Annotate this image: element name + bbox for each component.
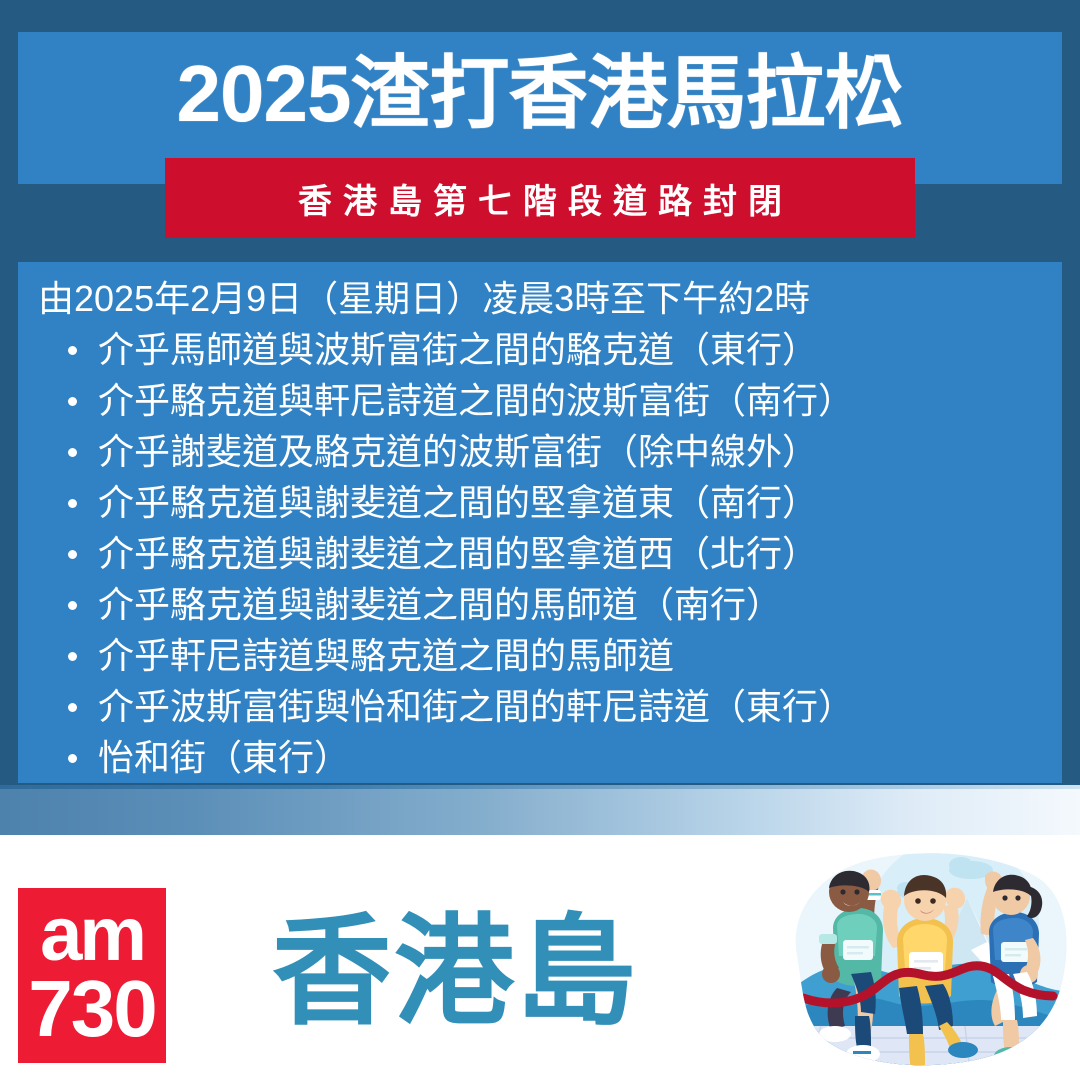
bullet-icon bbox=[68, 601, 77, 610]
list-item-label: 介乎駱克道與謝斐道之間的馬師道（南行） bbox=[98, 584, 782, 625]
list-item-label: 介乎駱克道與謝斐道之間的堅拿道東（南行） bbox=[98, 482, 818, 523]
list-item-label: 介乎軒尼詩道與駱克道之間的馬師道 bbox=[98, 635, 674, 676]
logo-text-730: 730 bbox=[18, 966, 166, 1052]
bullet-icon bbox=[68, 499, 77, 508]
list-item: 介乎駱克道與軒尼詩道之間的波斯富街（南行） bbox=[36, 375, 1044, 426]
page-title: 2025渣打香港馬拉松 bbox=[18, 48, 1062, 140]
list-item-label: 介乎波斯富街與怡和街之間的軒尼詩道（東行） bbox=[98, 686, 854, 727]
am730-logo: am 730 bbox=[18, 888, 166, 1063]
subtitle-text: 香港島第七階段道路封閉 bbox=[287, 174, 793, 223]
bullet-icon bbox=[68, 754, 77, 763]
region-label: 香港島 bbox=[272, 897, 638, 1047]
marathon-road-closure-poster: 2025渣打香港馬拉松 香港島第七階段道路封閉 由2025年2月9日（星期日）凌… bbox=[0, 0, 1080, 1080]
list-item: 介乎謝斐道及駱克道的波斯富街（除中線外） bbox=[36, 426, 1044, 477]
list-item: 介乎軒尼詩道與駱克道之間的馬師道 bbox=[36, 630, 1044, 681]
bullet-icon bbox=[68, 550, 77, 559]
closure-period-text: 由2025年2月9日（星期日）凌晨3時至下午約2時 bbox=[38, 276, 1044, 322]
bullet-icon bbox=[68, 652, 77, 661]
list-item-label: 介乎馬師道與波斯富街之間的駱克道（東行） bbox=[98, 329, 818, 370]
list-item: 介乎駱克道與謝斐道之間的堅拿道東（南行） bbox=[36, 477, 1044, 528]
bullet-icon bbox=[68, 397, 77, 406]
list-item: 介乎馬師道與波斯富街之間的駱克道（東行） bbox=[36, 324, 1044, 375]
footer: am 730 香港島 bbox=[0, 835, 1080, 1080]
list-item-label: 介乎駱克道與軒尼詩道之間的波斯富街（南行） bbox=[98, 380, 854, 421]
subtitle-banner: 香港島第七階段道路封閉 bbox=[165, 158, 915, 238]
road-closure-list: 介乎馬師道與波斯富街之間的駱克道（東行） 介乎駱克道與軒尼詩道之間的波斯富街（南… bbox=[36, 324, 1044, 783]
bullet-icon bbox=[68, 703, 77, 712]
list-item: 介乎駱克道與謝斐道之間的堅拿道西（北行） bbox=[36, 528, 1044, 579]
gradient-divider bbox=[0, 785, 1080, 835]
list-item-label: 介乎謝斐道及駱克道的波斯富街（除中線外） bbox=[98, 431, 818, 472]
bullet-icon bbox=[68, 346, 77, 355]
three-runners-finish-line-icon bbox=[775, 830, 1075, 1080]
body-panel: 由2025年2月9日（星期日）凌晨3時至下午約2時 介乎馬師道與波斯富街之間的駱… bbox=[18, 262, 1062, 783]
list-item: 介乎駱克道與謝斐道之間的馬師道（南行） bbox=[36, 579, 1044, 630]
bullet-icon bbox=[68, 448, 77, 457]
list-item-label: 介乎駱克道與謝斐道之間的堅拿道西（北行） bbox=[98, 533, 818, 574]
list-item-label: 怡和街（東行） bbox=[98, 737, 350, 778]
list-item: 介乎波斯富街與怡和街之間的軒尼詩道（東行） bbox=[36, 681, 1044, 732]
list-item: 怡和街（東行） bbox=[36, 732, 1044, 783]
